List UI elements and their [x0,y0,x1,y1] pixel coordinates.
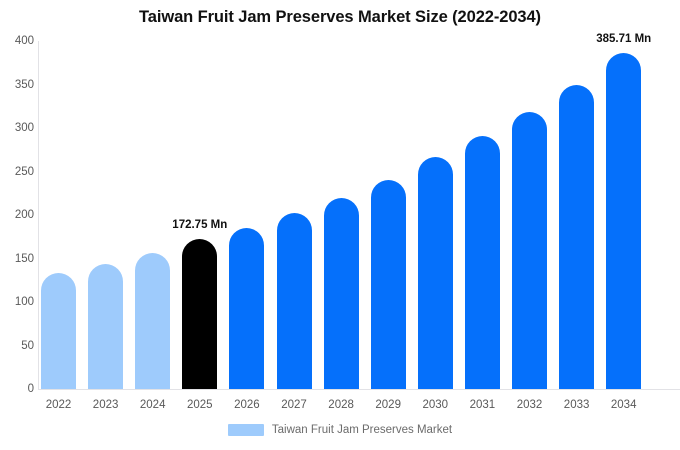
x-axis-tick-label-2032: 2032 [517,399,543,411]
x-axis-tick-label-2024: 2024 [140,399,166,411]
x-axis-tick-label-2030: 2030 [423,399,449,411]
bar-2026[interactable] [229,228,264,389]
legend-swatch [228,424,264,436]
bar-2034[interactable] [606,53,641,389]
bar-value-label-2034: 385.71 Mn [596,33,651,45]
bar-2032[interactable] [512,112,547,389]
bar-2022[interactable] [41,273,76,389]
chart-legend: Taiwan Fruit Jam Preserves Market [0,424,680,436]
bar-2024[interactable] [135,253,170,389]
bar-2029[interactable] [371,180,406,389]
bar-value-label-2025: 172.75 Mn [172,219,227,231]
bars-layer: 202220232024172.75 Mn2025202620272028202… [0,0,680,450]
x-axis-tick-label-2025: 2025 [187,399,213,411]
legend-label: Taiwan Fruit Jam Preserves Market [272,424,452,436]
x-axis-tick-label-2023: 2023 [93,399,119,411]
bar-2027[interactable] [277,213,312,389]
bar-2023[interactable] [88,264,123,389]
bar-2028[interactable] [324,198,359,389]
bar-2031[interactable] [465,136,500,389]
x-axis-tick-label-2026: 2026 [234,399,260,411]
bar-2030[interactable] [418,157,453,389]
x-axis-tick-label-2027: 2027 [281,399,307,411]
bar-chart: Taiwan Fruit Jam Preserves Market Size (… [0,0,680,450]
x-axis-tick-label-2033: 2033 [564,399,590,411]
x-axis-tick-label-2034: 2034 [611,399,637,411]
bar-2033[interactable] [559,85,594,389]
x-axis-tick-label-2028: 2028 [328,399,354,411]
x-axis-tick-label-2031: 2031 [470,399,496,411]
x-axis-tick-label-2029: 2029 [375,399,401,411]
bar-2025[interactable] [182,239,217,389]
x-axis-tick-label-2022: 2022 [46,399,72,411]
